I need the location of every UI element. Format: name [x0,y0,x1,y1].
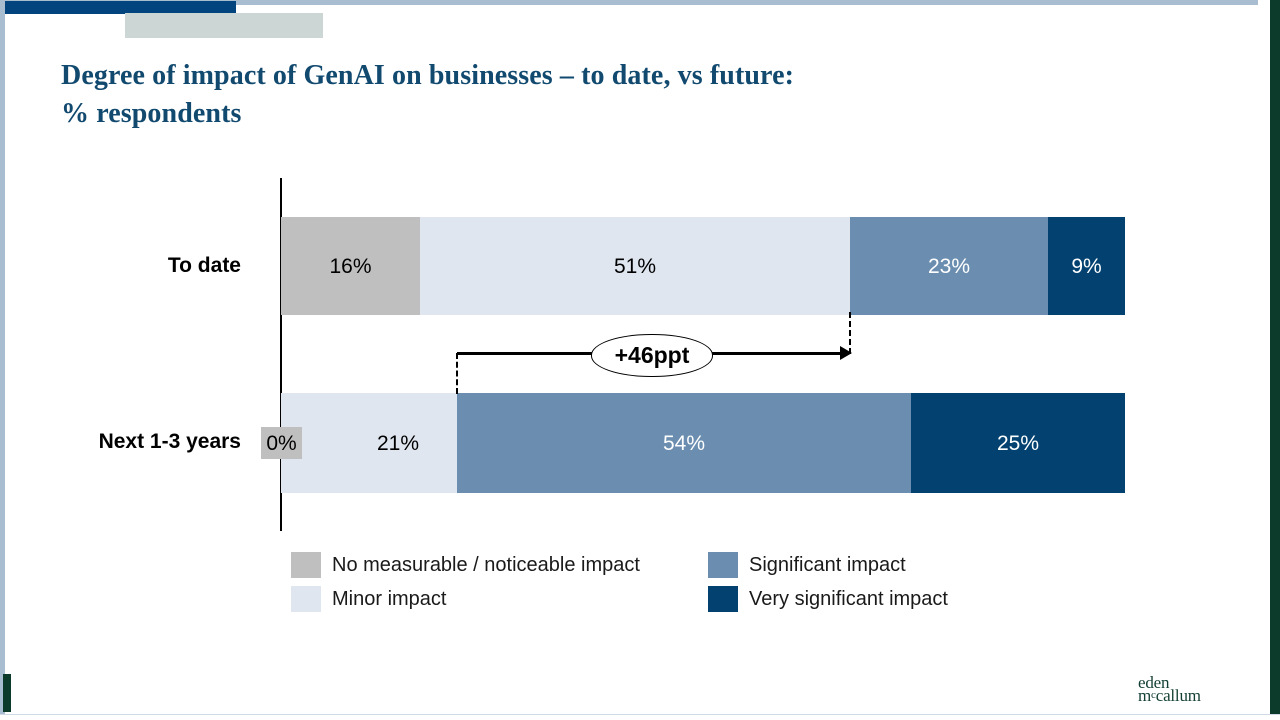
annotation-arrow-head-icon [840,346,852,360]
legend-swatch-minor-impact [291,586,321,612]
bar-segment-next-very-significant-impact[interactable]: 25% [911,393,1125,493]
legend-label: Minor impact [332,588,446,611]
bar-value-label: 51% [614,256,656,277]
annotation-callout-delta: +46ppt [591,334,713,377]
bar-value-label: 21% [377,433,419,454]
category-label-to-date: To date [0,254,241,278]
bar-value-label: 9% [1071,256,1101,277]
legend-item-very-significant-impact[interactable]: Very significant impact [708,586,948,612]
bar-segment-next-minor-impact[interactable]: 21% [281,393,457,493]
bar-segment-to-date-significant-impact[interactable]: 23% [850,217,1048,315]
legend-swatch-significant-impact [708,552,738,578]
bar-value-label: 23% [928,256,970,277]
legend-swatch-no-measurable-impact [291,552,321,578]
legend-item-no-measurable-impact[interactable]: No measurable / noticeable impact [291,552,640,578]
legend-label: Very significant impact [749,588,948,611]
legend-label: Significant impact [749,554,906,577]
legend-label: No measurable / noticeable impact [332,554,640,577]
bar-segment-to-date-no-impact[interactable]: 16% [281,217,420,315]
logo-m: m [1138,686,1151,705]
company-logo: eden mccallum [1138,676,1201,702]
slide-canvas: Degree of impact of GenAI on businesses … [0,0,1280,720]
bar-value-label: 25% [997,433,1039,454]
bar-segment-to-date-very-significant-impact[interactable]: 9% [1048,217,1125,315]
logo-callum: callum [1156,686,1201,705]
bar-value-label: 54% [663,433,705,454]
logo-line-mccallum: mccallum [1138,689,1201,702]
annotation-connector-left [456,353,458,394]
legend-swatch-very-significant-impact [708,586,738,612]
bar-segment-next-no-impact[interactable]: 0% [261,427,302,459]
bar-segment-to-date-minor-impact[interactable]: 51% [420,217,850,315]
bar-value-label: 0% [266,433,296,454]
category-label-next-1-3-years: Next 1-3 years [0,430,241,454]
bar-segment-next-significant-impact[interactable]: 54% [457,393,911,493]
bar-value-label: 16% [329,256,371,277]
legend-item-minor-impact[interactable]: Minor impact [291,586,446,612]
annotation-delta-label: +46ppt [615,342,690,369]
stacked-bar-chart: To date Next 1-3 years 16% 51% 23% 9% 21… [0,0,1280,720]
legend-item-significant-impact[interactable]: Significant impact [708,552,906,578]
